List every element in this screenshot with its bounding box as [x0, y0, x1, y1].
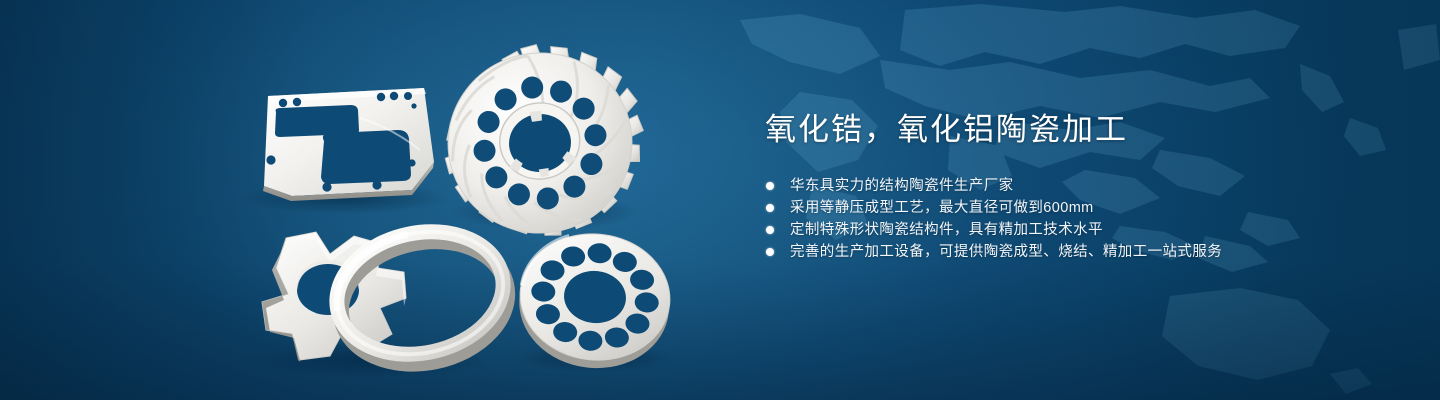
list-item-label: 完善的生产加工设备，可提供陶瓷成型、烧结、精加工一站式服务: [790, 244, 1222, 260]
ceramic-parts-artwork: [0, 0, 740, 400]
page-title: 氧化锆，氧化铝陶瓷加工: [765, 112, 1325, 149]
list-item: 华东具实力的结构陶瓷件生产厂家: [765, 175, 1325, 197]
list-item: 完善的生产加工设备，可提供陶瓷成型、烧结、精加工一站式服务: [765, 241, 1325, 263]
list-item: 采用等静压成型工艺，最大直径可做到600mm: [765, 197, 1325, 219]
banner-copy: 氧化锆，氧化铝陶瓷加工 华东具实力的结构陶瓷件生产厂家 采用等静压成型工艺，最大…: [765, 112, 1325, 263]
hero-banner: 氧化锆，氧化铝陶瓷加工 华东具实力的结构陶瓷件生产厂家 采用等静压成型工艺，最大…: [0, 0, 1440, 400]
part-ceramic-plate: [263, 88, 434, 201]
list-item-label: 华东具实力的结构陶瓷件生产厂家: [790, 178, 1014, 194]
list-item: 定制特殊形状陶瓷结构件，具有精加工技术水平: [765, 219, 1325, 241]
feature-list: 华东具实力的结构陶瓷件生产厂家 采用等静压成型工艺，最大直径可做到600mm 定…: [765, 175, 1325, 263]
bullet-dot-icon: [766, 182, 774, 190]
bullet-dot-icon: [766, 204, 774, 212]
list-item-label: 定制特殊形状陶瓷结构件，具有精加工技术水平: [790, 222, 1103, 238]
bullet-dot-icon: [766, 226, 774, 234]
bullet-dot-icon: [766, 248, 774, 256]
list-item-label: 采用等静压成型工艺，最大直径可做到600mm: [790, 200, 1094, 216]
